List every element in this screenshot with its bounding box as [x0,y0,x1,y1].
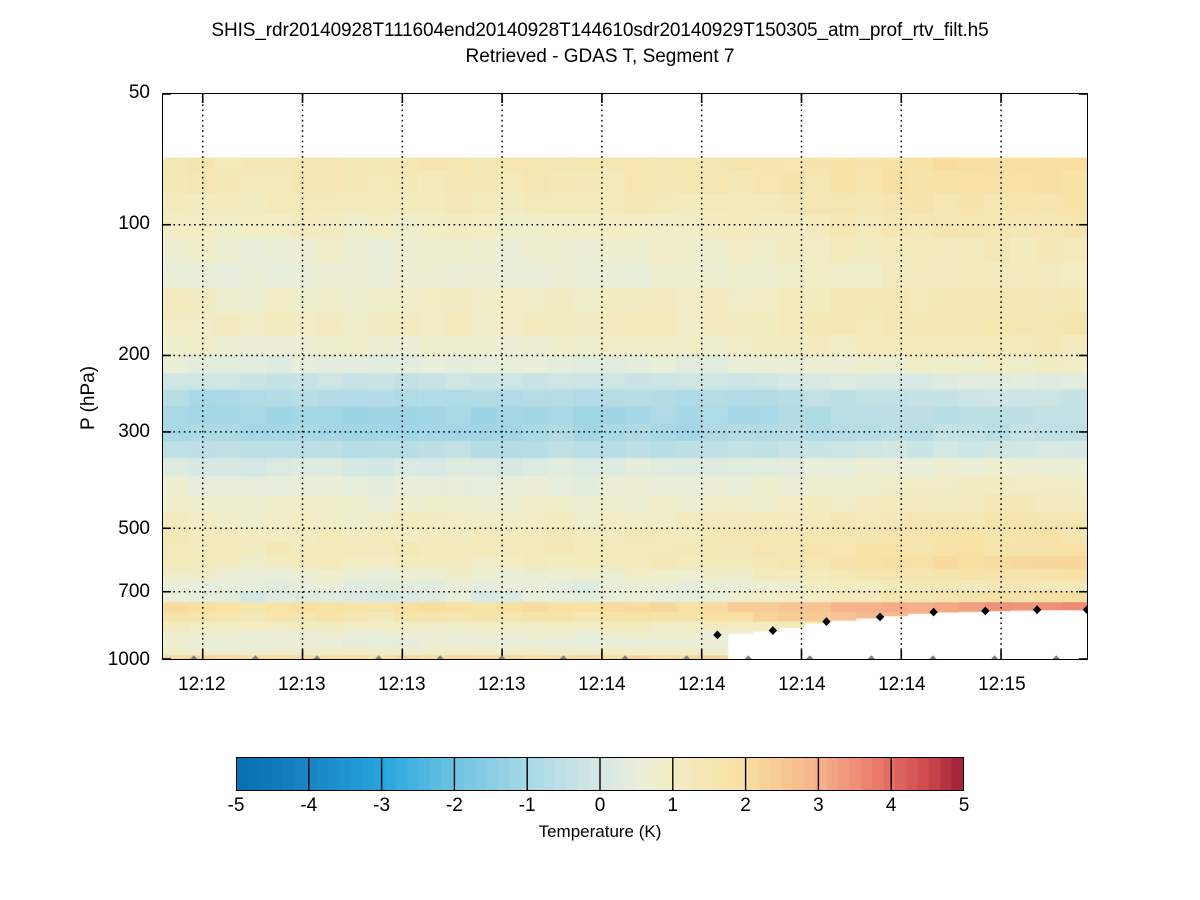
x-tick-label: 12:12 [147,674,257,696]
x-tick-label: 12:14 [747,674,857,696]
y-tick-label: 50 [60,82,150,104]
colorbar-tick-label: 2 [716,795,776,817]
x-tick-label: 12:14 [647,674,757,696]
x-tick-label: 12:13 [447,674,557,696]
y-tick-label: 200 [60,344,150,366]
x-tick-label: 12:15 [947,674,1057,696]
colorbar-tick-label: -2 [424,795,484,817]
heatmap-plot-area[interactable] [162,93,1088,660]
colorbar[interactable] [236,757,964,791]
figure-canvas: SHIS_rdr20140928T111604end20140928T14461… [0,0,1200,900]
y-tick-label: 500 [60,518,150,540]
y-tick-label: 300 [60,421,150,443]
chart-title-block: SHIS_rdr20140928T111604end20140928T14461… [0,18,1200,70]
colorbar-tick-label: 0 [570,795,630,817]
chart-title-subtitle: Retrieved - GDAS T, Segment 7 [0,44,1200,70]
colorbar-tick-label: -4 [279,795,339,817]
colorbar-axis-label: Temperature (K) [0,822,1200,842]
x-tick-label: 12:13 [247,674,357,696]
colorbar-tick-label: -3 [352,795,412,817]
colorbar-canvas [237,758,963,790]
colorbar-tick-label: -1 [497,795,557,817]
colorbar-tick-label: 5 [934,795,994,817]
colorbar-tick-label: 3 [788,795,848,817]
chart-title-primary: SHIS_rdr20140928T111604end20140928T14461… [0,18,1200,44]
x-tick-label: 12:14 [547,674,657,696]
x-tick-label: 12:13 [347,674,457,696]
colorbar-tick-label: 1 [643,795,703,817]
colorbar-gradient [236,757,964,791]
y-tick-label: 1000 [60,649,150,671]
y-tick-label: 100 [60,213,150,235]
y-tick-label: 700 [60,581,150,603]
heatmap-data-layer [163,94,1087,659]
colorbar-tick-label: -5 [206,795,266,817]
x-tick-label: 12:14 [847,674,957,696]
colorbar-tick-label: 4 [861,795,921,817]
heatmap-canvas [163,94,1087,659]
